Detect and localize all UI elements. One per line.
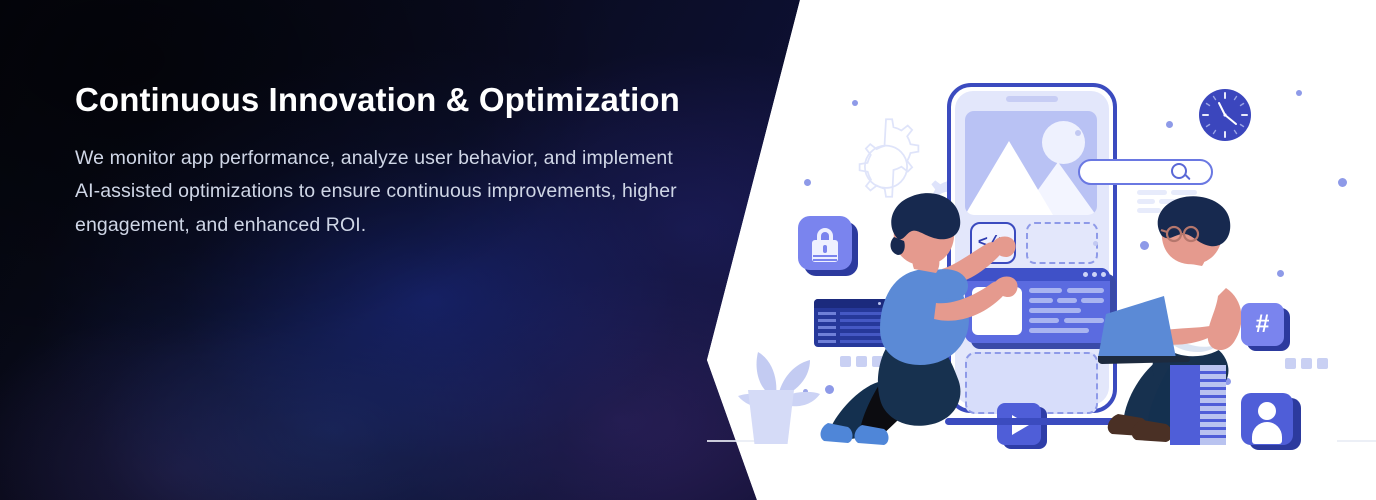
card-text-line	[1029, 298, 1053, 303]
decor-square	[1301, 358, 1312, 369]
card-text-line	[1057, 298, 1077, 303]
text-placeholder-line	[1137, 190, 1167, 195]
server-line	[1200, 419, 1226, 422]
window-dot	[1083, 272, 1088, 277]
server-line	[1200, 427, 1226, 430]
server-line	[1200, 371, 1226, 374]
server-line	[1200, 411, 1226, 414]
server-line	[1200, 435, 1226, 438]
server-line	[1200, 387, 1226, 390]
avatar-head	[1258, 402, 1276, 420]
search-icon[interactable]	[1171, 163, 1187, 179]
clock-hands	[1199, 89, 1251, 141]
search-input[interactable]	[1078, 159, 1213, 185]
decor-dot	[1338, 178, 1347, 187]
card-text-line	[1029, 308, 1081, 313]
decor-dot	[804, 179, 811, 186]
window-dot	[1092, 272, 1097, 277]
placeholder-box-top	[1026, 222, 1098, 264]
card-text-line	[1029, 288, 1062, 293]
server-line	[1200, 403, 1226, 406]
text-placeholder-line	[1171, 190, 1197, 195]
decor-square	[1317, 358, 1328, 369]
decor-dot	[1075, 130, 1081, 136]
hash-icon: #	[1241, 303, 1284, 346]
card-text-line	[1029, 318, 1059, 323]
phone-notch	[1006, 96, 1058, 102]
server-line	[1200, 395, 1226, 398]
decor-dot	[1296, 90, 1302, 96]
avatar-body	[1252, 422, 1282, 444]
plant-pot	[748, 390, 794, 444]
person-kneeling	[818, 185, 1028, 450]
illustration: </>	[700, 0, 1376, 500]
decor-dot	[1166, 121, 1173, 128]
card-text-line	[1029, 328, 1089, 333]
hero-banner: Continuous Innovation & Optimization We …	[0, 0, 1376, 500]
decor-dot	[852, 100, 858, 106]
server-line	[1200, 379, 1226, 382]
